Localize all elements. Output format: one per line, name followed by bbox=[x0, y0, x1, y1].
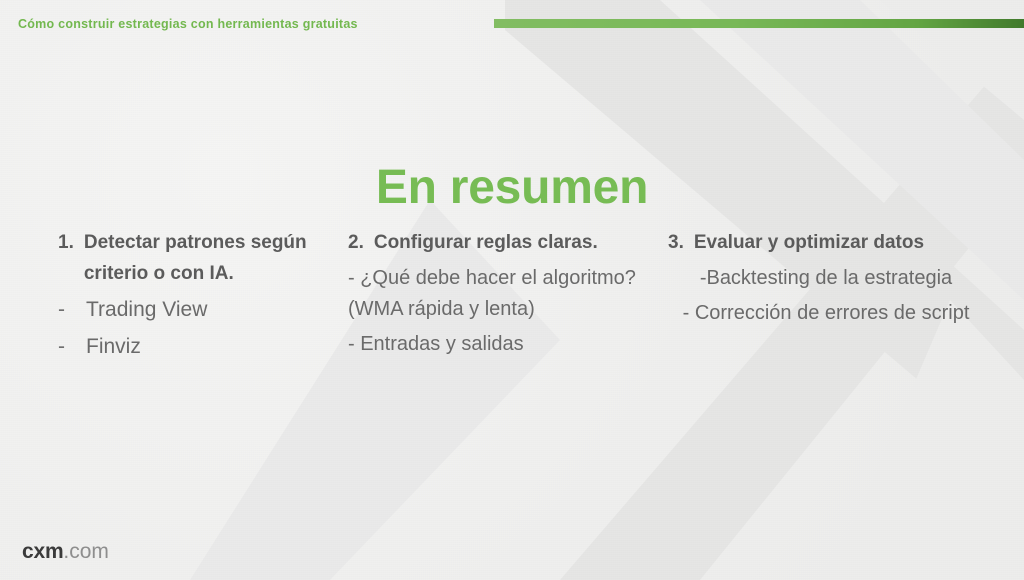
list-item: - Trading View bbox=[58, 292, 326, 327]
column-1-heading: 1. Detectar patrones según criterio o co… bbox=[58, 228, 326, 290]
summary-columns: 1. Detectar patrones según criterio o co… bbox=[0, 228, 1024, 364]
column-3-heading-text: Evaluar y optimizar datos bbox=[694, 228, 924, 259]
column-2-subitem-1: - ¿Qué debe hacer el algoritmo? (WMA ráp… bbox=[348, 263, 640, 325]
column-2: 2. Configurar reglas claras. - ¿Qué debe… bbox=[340, 228, 652, 360]
list-item: - Finviz bbox=[58, 329, 326, 364]
column-1-subitem-1: Trading View bbox=[86, 292, 207, 327]
logo-tld: .com bbox=[63, 540, 109, 563]
logo-mark: cxm bbox=[22, 540, 63, 563]
column-3-subitem-2: - Corrección de errores de script bbox=[668, 298, 984, 329]
column-3: 3. Evaluar y optimizar datos -Backtestin… bbox=[652, 228, 1024, 329]
column-3-number: 3. bbox=[668, 228, 694, 259]
slide-canvas: Cómo construir estrategias con herramien… bbox=[0, 0, 1024, 580]
column-3-subitem-1: -Backtesting de la estrategia bbox=[668, 263, 984, 294]
eyebrow-title: Cómo construir estrategias con herramien… bbox=[18, 17, 358, 31]
column-1-subitem-2: Finviz bbox=[86, 329, 141, 364]
bullet-dash-icon: - bbox=[58, 329, 86, 364]
column-1-heading-text: Detectar patrones según criterio o con I… bbox=[84, 228, 326, 290]
column-2-subitem-2: - Entradas y salidas bbox=[348, 329, 640, 360]
column-2-heading-text: Configurar reglas claras. bbox=[374, 228, 598, 259]
page-title: En resumen bbox=[0, 160, 1024, 215]
column-1: 1. Detectar patrones según criterio o co… bbox=[0, 228, 340, 364]
header-accent-rule bbox=[494, 19, 1024, 28]
column-1-number: 1. bbox=[58, 228, 84, 259]
header-bar: Cómo construir estrategias con herramien… bbox=[0, 0, 1024, 48]
bullet-dash-icon: - bbox=[58, 292, 86, 327]
column-2-number: 2. bbox=[348, 228, 374, 259]
column-3-heading: 3. Evaluar y optimizar datos bbox=[668, 228, 984, 259]
footer-logo: cxm.com bbox=[22, 541, 109, 562]
column-2-heading: 2. Configurar reglas claras. bbox=[348, 228, 640, 259]
